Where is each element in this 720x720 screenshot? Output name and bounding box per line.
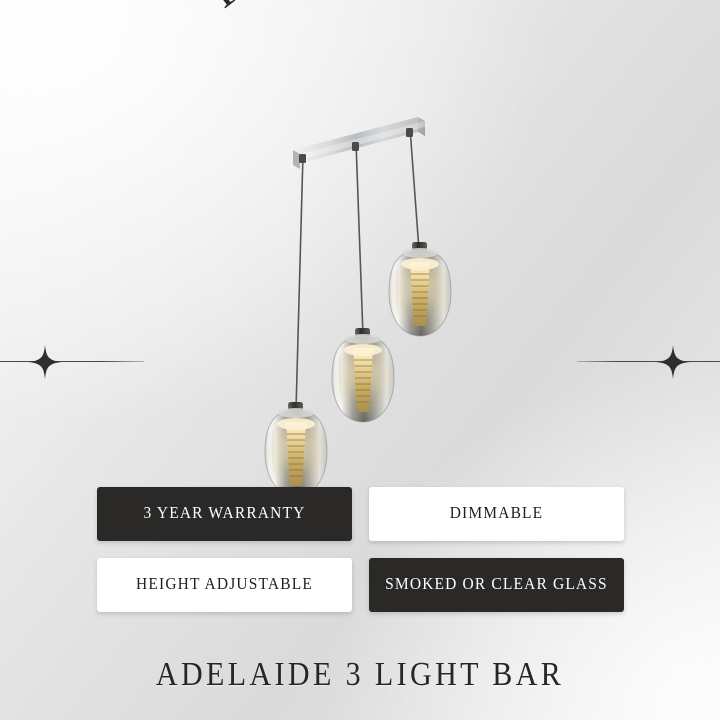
divider-line <box>0 361 144 362</box>
sparkle-four-point-icon <box>655 344 691 380</box>
mount-bar <box>293 117 425 169</box>
pendant-right <box>389 242 451 336</box>
feature-badge-label: DIMMABLE <box>450 504 544 523</box>
feature-badge[interactable]: SMOKED OR CLEAR GLASS <box>369 558 624 612</box>
product-image <box>0 0 720 520</box>
product-highlights-poster: Product Highlights <box>0 0 720 720</box>
feature-badge[interactable]: HEIGHT ADJUSTABLE <box>97 558 352 612</box>
divider-line <box>577 361 720 362</box>
feature-badge-grid: 3 YEAR WARRANTYDIMMABLEHEIGHT ADJUSTABLE… <box>97 487 624 612</box>
product-name-text: ADELAIDE 3 LIGHT BAR <box>156 656 564 694</box>
sparkle-four-point-icon <box>27 344 63 380</box>
feature-badge-label: SMOKED OR CLEAR GLASS <box>385 575 608 594</box>
feature-badge-label: 3 YEAR WARRANTY <box>144 504 306 523</box>
pendant-left <box>265 402 327 496</box>
pendant-middle <box>332 328 394 422</box>
divider-left <box>0 361 144 363</box>
feature-badge[interactable]: 3 YEAR WARRANTY <box>97 487 352 541</box>
product-name: ADELAIDE 3 LIGHT BAR <box>0 658 720 692</box>
divider-right <box>577 361 720 363</box>
feature-badge-label: HEIGHT ADJUSTABLE <box>136 575 313 594</box>
feature-badge[interactable]: DIMMABLE <box>369 487 624 541</box>
